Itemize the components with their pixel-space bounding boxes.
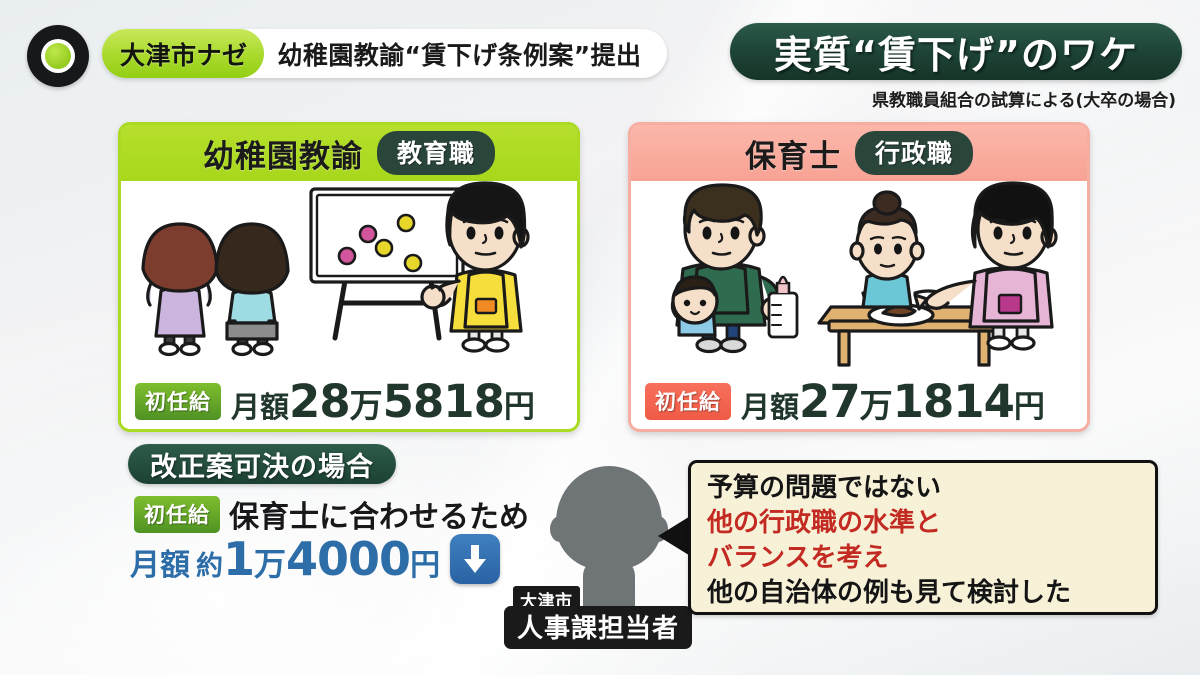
- revision-case-label: 改正案可決の場合: [150, 445, 374, 484]
- card-pay-row: 初任給 月額27万1814円: [631, 375, 1087, 427]
- amount-prefix: 月額: [130, 540, 190, 584]
- revision-amount-row: 月額約1万4000円: [130, 532, 500, 586]
- revision-case-pill: 改正案可決の場合: [128, 444, 396, 484]
- card-kindergarten-teacher: 幼稚園教諭 教育職: [118, 122, 580, 432]
- revision-amount: 月額約1万4000円: [130, 532, 440, 586]
- card-nursery-teacher: 保育士 行政職: [628, 122, 1090, 432]
- amount-man: 1: [223, 532, 254, 586]
- logo-dot: [45, 43, 71, 69]
- title-subtitle: 県教職員組合の試算による(大卒の場合): [872, 86, 1176, 111]
- logo-ring: [41, 39, 75, 73]
- quote-line: 他の行政職の水準と: [707, 506, 1141, 541]
- starting-salary-badge: 初任給: [135, 383, 221, 420]
- starting-salary-amount: 月額27万1814円: [741, 375, 1045, 428]
- nursery-care-illustration: [631, 181, 1087, 375]
- page-title: 実質“賃下げ”のワケ: [774, 24, 1138, 79]
- quote-line: バランスを考え: [707, 541, 1141, 576]
- nursery-scene-svg: [631, 181, 1087, 375]
- revision-reason-row: 初任給 保育士に合わせるため: [134, 492, 529, 536]
- card-header: 幼稚園教諭 教育職: [121, 125, 577, 181]
- starting-salary-badge: 初任給: [645, 383, 731, 420]
- headline-text: 幼稚園教諭“賃下げ条例案”提出: [264, 29, 652, 78]
- pay-prefix: 月額: [231, 384, 289, 426]
- pay-sen: 1814: [893, 375, 1014, 428]
- speaker-role-label: 人事課担当者: [504, 606, 692, 649]
- speaker-quote-box: 予算の問題ではない 他の行政職の水準と バランスを考え 他の自治体の例も見て検討…: [688, 460, 1158, 615]
- pay-yen: 円: [504, 381, 535, 426]
- kindergarten-classroom-illustration: [121, 181, 577, 375]
- quote-line: 他の自治体の例も見て検討した: [707, 576, 1141, 611]
- pay-man: 27: [799, 375, 860, 428]
- main-title-pill: 実質“賃下げ”のワケ: [730, 23, 1182, 80]
- card-job-type-badge: 行政職: [855, 131, 973, 175]
- pay-man: 28: [289, 375, 350, 428]
- pay-man-unit: 万: [350, 379, 383, 427]
- top-bar: 大津市ナゼ 幼稚園教諭“賃下げ条例案”提出 実質“賃下げ”のワケ 県教職員組合の…: [0, 0, 1200, 112]
- quote-line: 予算の問題ではない: [707, 471, 1141, 506]
- down-arrow-glyph: [460, 543, 490, 575]
- headline-banner: 大津市ナゼ 幼稚園教諭“賃下げ条例案”提出: [102, 29, 667, 78]
- starting-salary-amount: 月額28万5818円: [231, 375, 535, 428]
- card-title: 保育士: [745, 131, 841, 176]
- circle-logo-icon: [27, 25, 89, 87]
- pay-sen: 5818: [383, 375, 504, 428]
- pay-prefix: 月額: [741, 384, 799, 426]
- revision-reason-text: 保育士に合わせるため: [229, 492, 529, 536]
- starting-salary-badge: 初任給: [134, 496, 220, 533]
- amount-man-unit: 万: [254, 539, 286, 585]
- amount-sen: 4000: [286, 532, 410, 586]
- classroom-scene-svg: [121, 181, 577, 375]
- silhouette-head: [556, 466, 662, 570]
- headline-tag: 大津市ナゼ: [102, 29, 264, 78]
- amount-yen: 円: [410, 540, 440, 584]
- card-header: 保育士 行政職: [631, 125, 1087, 181]
- card-title: 幼稚園教諭: [203, 131, 363, 176]
- down-arrow-icon: [450, 534, 500, 584]
- pay-yen: 円: [1014, 381, 1045, 426]
- triangle-pointer-icon: [658, 515, 692, 557]
- card-job-type-badge: 教育職: [377, 131, 495, 175]
- amount-approx: 約: [190, 544, 223, 583]
- card-pay-row: 初任給 月額28万5818円: [121, 375, 577, 427]
- pay-man-unit: 万: [860, 379, 893, 427]
